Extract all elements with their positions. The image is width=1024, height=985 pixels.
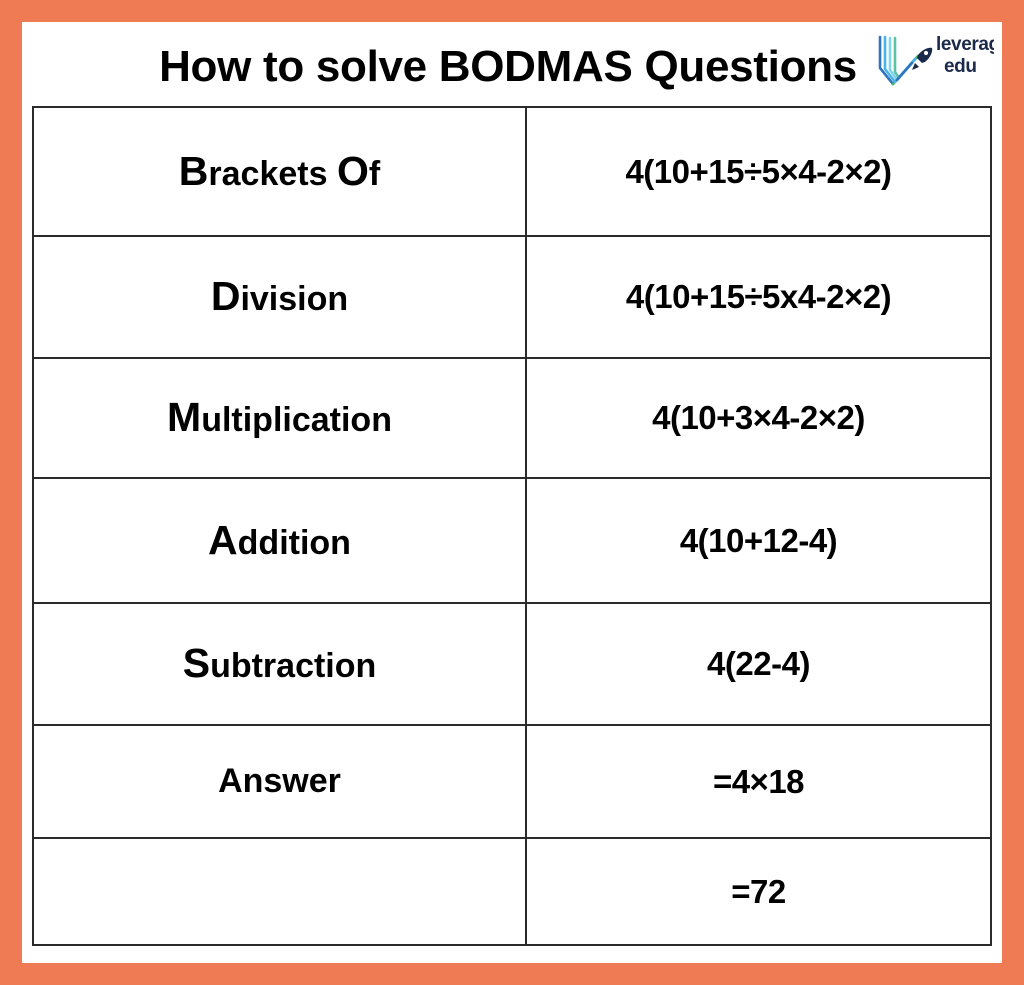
table-row: Subtraction 4(22-4) bbox=[33, 603, 991, 725]
expression-text: =72 bbox=[731, 873, 785, 910]
step-label: Subtraction bbox=[183, 647, 377, 685]
expression-cell-brackets-of: 4(10+15÷5×4-2×2) bbox=[526, 107, 991, 236]
logo-text-line2: edu bbox=[944, 56, 977, 77]
table-row: =72 bbox=[33, 838, 991, 945]
page-title: How to solve BODMAS Questions bbox=[159, 39, 857, 89]
bodmas-steps-table: Brackets Of 4(10+15÷5×4-2×2) Division 4(… bbox=[32, 106, 992, 946]
expression-cell-result: =72 bbox=[526, 838, 991, 945]
expression-text: 4(10+12-4) bbox=[680, 522, 837, 559]
step-label: Multiplication bbox=[167, 401, 392, 439]
step-label: Brackets Of bbox=[179, 155, 380, 193]
expression-text: 4(10+3×4-2×2) bbox=[652, 399, 865, 436]
step-label: Division bbox=[211, 280, 348, 318]
step-label: Addition bbox=[208, 524, 351, 562]
logo-book-mark bbox=[880, 37, 918, 84]
step-label: Answer bbox=[218, 762, 341, 800]
step-cell-subtraction: Subtraction bbox=[33, 603, 526, 725]
expression-cell-division: 4(10+15÷5x4-2×2) bbox=[526, 236, 991, 358]
step-cell-multiplication: Multiplication bbox=[33, 358, 526, 478]
poster-root: How to solve BODMAS Questions lev bbox=[0, 0, 1024, 985]
expression-cell-addition: 4(10+12-4) bbox=[526, 478, 991, 603]
leverage-edu-logo[interactable]: leverage edu bbox=[874, 28, 994, 94]
step-cell-addition: Addition bbox=[33, 478, 526, 603]
table-row: Brackets Of 4(10+15÷5×4-2×2) bbox=[33, 107, 991, 236]
step-cell-brackets-of: Brackets Of bbox=[33, 107, 526, 236]
header: How to solve BODMAS Questions lev bbox=[22, 22, 1002, 106]
table-row: Multiplication 4(10+3×4-2×2) bbox=[33, 358, 991, 478]
expression-text: 4(10+15÷5×4-2×2) bbox=[625, 153, 891, 190]
expression-text: =4×18 bbox=[713, 763, 804, 800]
logo-text-line1: leverage bbox=[936, 34, 994, 55]
step-cell-answer: Answer bbox=[33, 725, 526, 838]
expression-cell-multiplication: 4(10+3×4-2×2) bbox=[526, 358, 991, 478]
expression-text: 4(22-4) bbox=[707, 645, 810, 682]
step-cell-division: Division bbox=[33, 236, 526, 358]
table-row: Answer =4×18 bbox=[33, 725, 991, 838]
table-row: Division 4(10+15÷5x4-2×2) bbox=[33, 236, 991, 358]
expression-cell-subtraction: 4(22-4) bbox=[526, 603, 991, 725]
table-row: Addition 4(10+12-4) bbox=[33, 478, 991, 603]
expression-text: 4(10+15÷5x4-2×2) bbox=[626, 278, 891, 315]
step-cell-empty bbox=[33, 838, 526, 945]
expression-cell-answer: =4×18 bbox=[526, 725, 991, 838]
